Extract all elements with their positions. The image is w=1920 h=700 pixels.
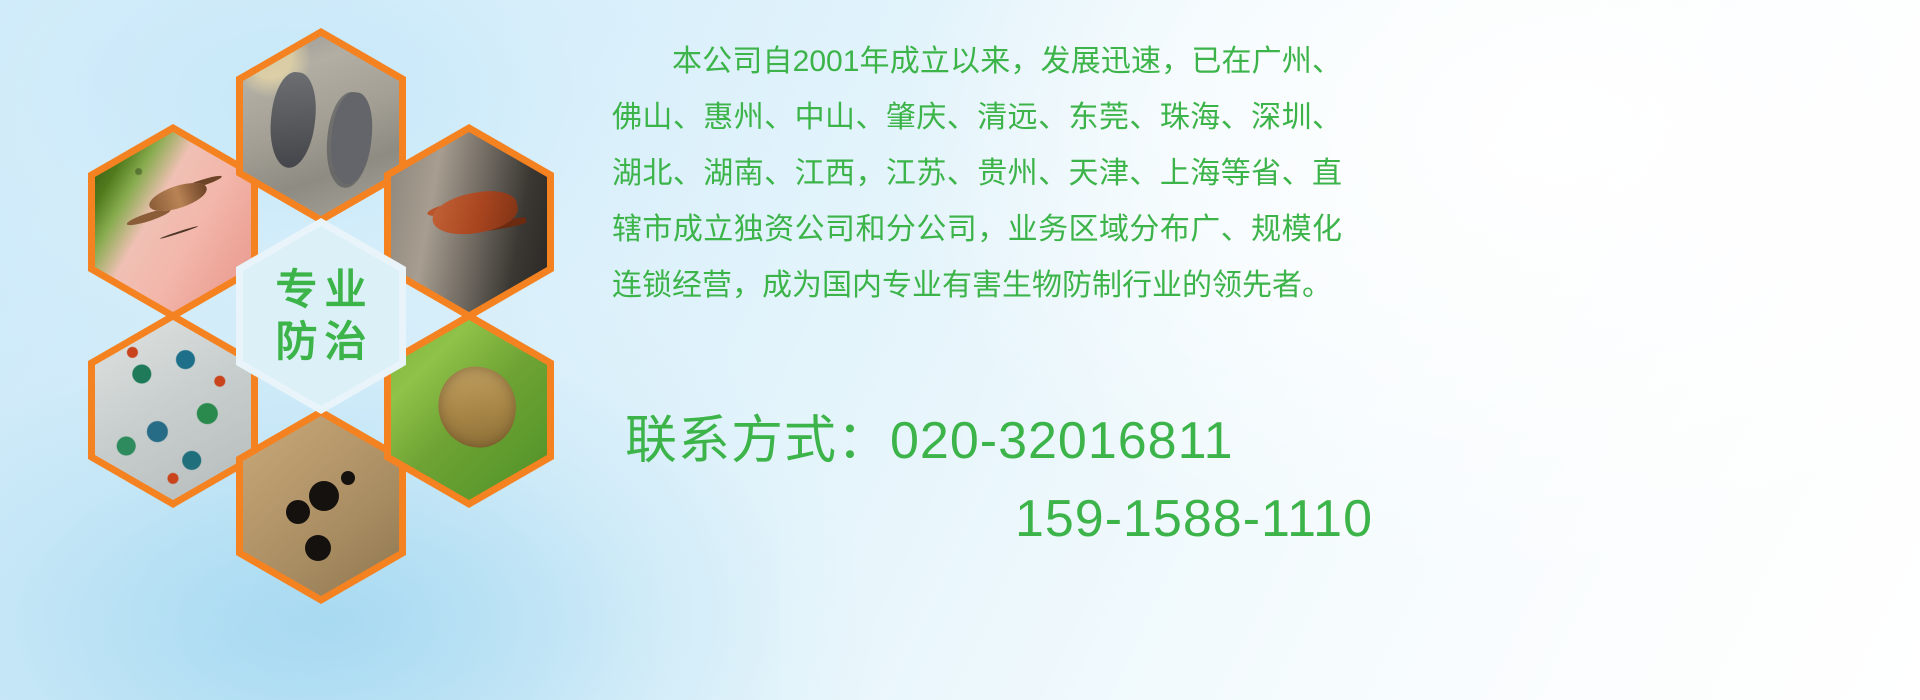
company-copy-block: 本公司自2001年成立以来，发展迅速，已在广州、佛山、惠州、中山、肇庆、清远、东… — [612, 34, 1342, 314]
mosquito-photo — [95, 132, 251, 312]
hex-tile-flies[interactable] — [88, 312, 258, 508]
ant-photo — [243, 416, 399, 596]
hex-tile-rats[interactable] — [236, 28, 406, 224]
hex-inner-ant — [243, 416, 399, 596]
hexagon-image-cluster: 专业 防治 — [88, 6, 588, 566]
slogan-line-2: 防治 — [268, 319, 373, 365]
hex-tile-cockroach[interactable] — [384, 124, 554, 320]
cockroach-photo — [391, 132, 547, 312]
hex-tile-stinkbug[interactable] — [384, 312, 554, 508]
hex-inner-flies — [95, 320, 251, 500]
contact-secondary-phone[interactable]: 159-1588-1110 — [625, 480, 1385, 558]
hex-inner-cockroach — [391, 132, 547, 312]
hex-tile-ant[interactable] — [236, 408, 406, 604]
contact-block: 联系方式：020-32016811 159-1588-1110 — [625, 402, 1385, 558]
hex-tile-mosquito[interactable] — [88, 124, 258, 320]
contact-primary-line[interactable]: 联系方式：020-32016811 — [625, 402, 1385, 480]
hex-tile-slogan: 专业 防治 — [236, 218, 406, 414]
promo-banner: 专业 防治 本公司自2001年成立以来，发展迅速，已在广州、佛山、惠州、中山、肇… — [0, 0, 1920, 700]
slogan-line-1: 专业 — [268, 267, 373, 313]
stinkbug-photo — [391, 320, 547, 500]
rats-photo — [243, 36, 399, 216]
hex-inner-slogan: 专业 防治 — [243, 226, 399, 406]
flies-photo — [95, 320, 251, 500]
hex-inner-mosquito — [95, 132, 251, 312]
hex-inner-rats — [243, 36, 399, 216]
hex-inner-stinkbug — [391, 320, 547, 500]
about-paragraph: 本公司自2001年成立以来，发展迅速，已在广州、佛山、惠州、中山、肇庆、清远、东… — [612, 34, 1342, 314]
